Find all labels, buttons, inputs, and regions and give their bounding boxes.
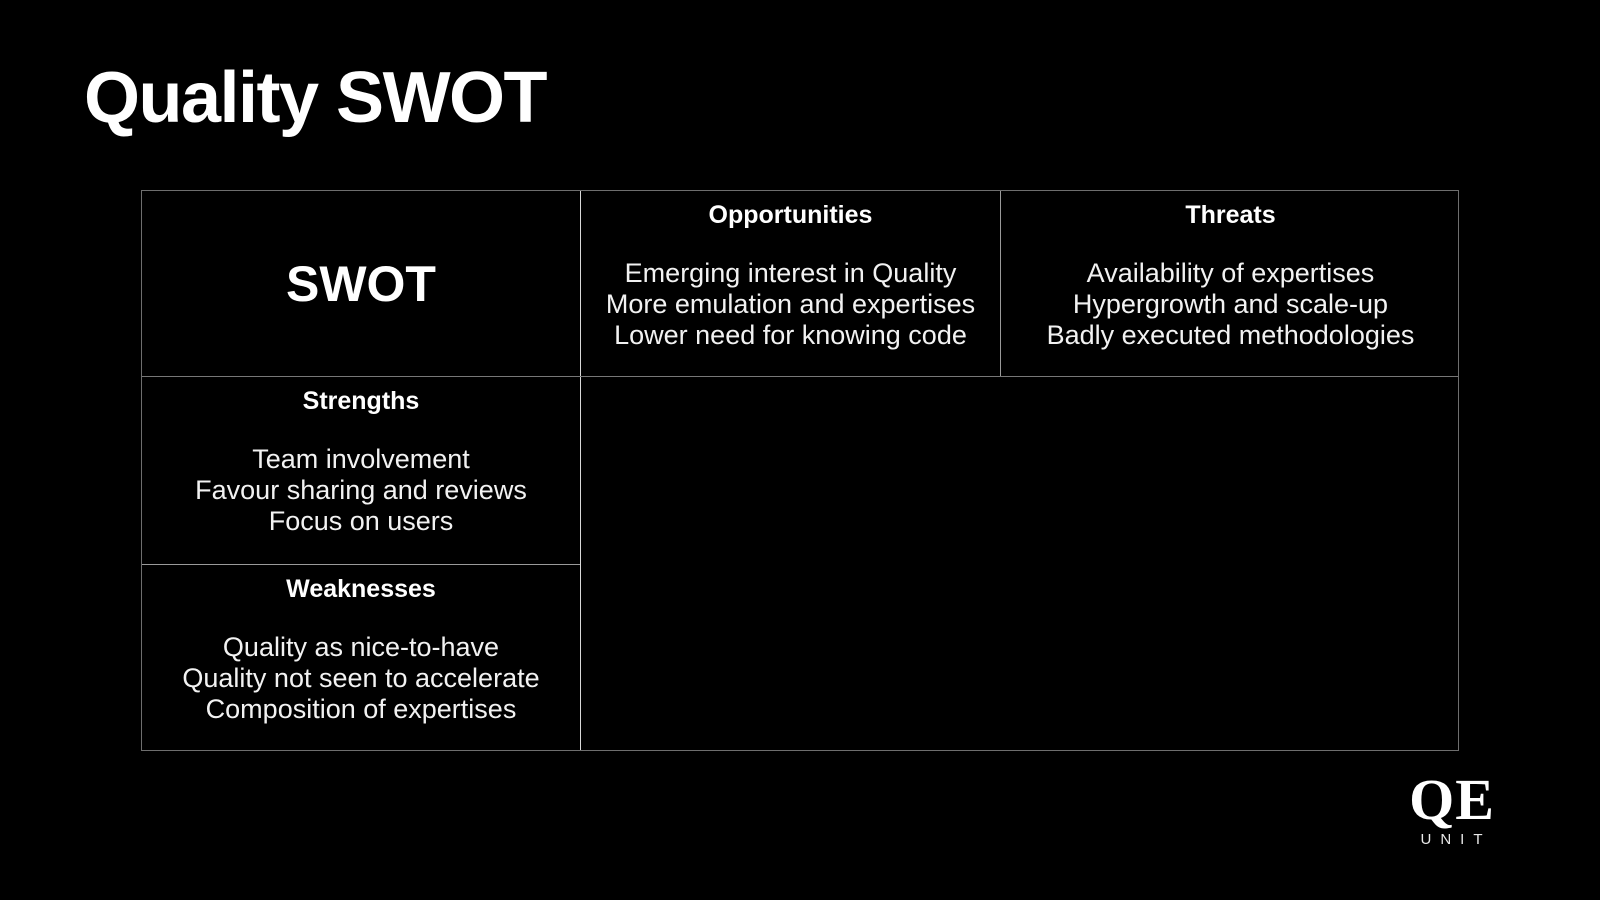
list-item: Hypergrowth and scale-up: [1011, 289, 1450, 320]
list-item: Favour sharing and reviews: [152, 475, 570, 506]
matrix-cell-strengths: Strengths Team involvement Favour sharin…: [142, 377, 580, 564]
list-item: Quality not seen to accelerate: [152, 663, 570, 694]
list-item: Focus on users: [152, 506, 570, 537]
qe-unit-logo: QE UNIT: [1392, 772, 1512, 848]
threats-items: Availability of expertises Hypergrowth a…: [1011, 258, 1450, 351]
logo-mark-text: QE: [1392, 772, 1512, 827]
matrix-cell-swot: SWOT: [142, 191, 580, 376]
swot-center-label: SWOT: [286, 255, 436, 313]
list-item: Quality as nice-to-have: [152, 632, 570, 663]
list-item: More emulation and expertises: [591, 289, 990, 320]
matrix-cell-opportunities: Opportunities Emerging interest in Quali…: [581, 191, 1000, 376]
list-item: Badly executed methodologies: [1011, 320, 1450, 351]
list-item: Availability of expertises: [1011, 258, 1450, 289]
strengths-items: Team involvement Favour sharing and revi…: [152, 444, 570, 537]
matrix-cell-empty: [581, 377, 1460, 752]
matrix-cell-threats: Threats Availability of expertises Hyper…: [1001, 191, 1460, 376]
strengths-heading: Strengths: [152, 386, 570, 416]
swot-matrix: SWOT Opportunities Emerging interest in …: [141, 190, 1459, 751]
weaknesses-items: Quality as nice-to-have Quality not seen…: [152, 632, 570, 725]
slide-canvas: Quality SWOT SWOT Opportunities Emerging…: [0, 0, 1600, 900]
logo-subtitle-text: UNIT: [1400, 831, 1512, 848]
threats-heading: Threats: [1011, 200, 1450, 230]
list-item: Composition of expertises: [152, 694, 570, 725]
page-title: Quality SWOT: [84, 62, 546, 134]
opportunities-heading: Opportunities: [591, 200, 990, 230]
weaknesses-heading: Weaknesses: [152, 574, 570, 604]
list-item: Team involvement: [152, 444, 570, 475]
list-item: Emerging interest in Quality: [591, 258, 990, 289]
matrix-cell-weaknesses: Weaknesses Quality as nice-to-have Quali…: [142, 565, 580, 752]
opportunities-items: Emerging interest in Quality More emulat…: [591, 258, 990, 351]
list-item: Lower need for knowing code: [591, 320, 990, 351]
